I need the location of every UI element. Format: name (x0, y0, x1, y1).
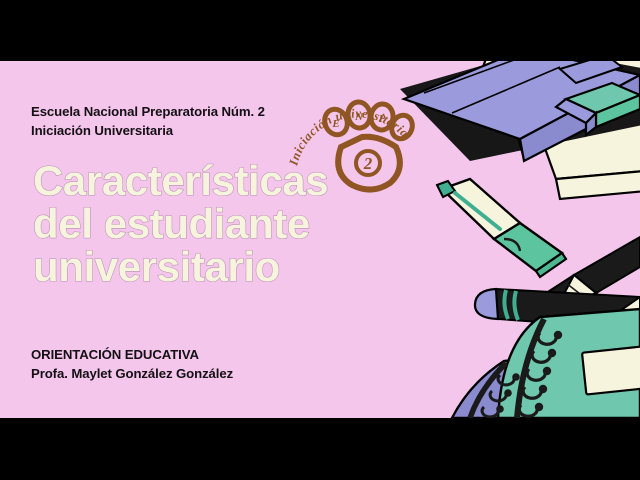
logo-toe-3 (369, 103, 394, 132)
purple-ruler (404, 61, 640, 161)
green-eraser (556, 83, 640, 135)
credits-block: ORIENTACIÓN EDUCATIVA Profa. Maylet Gonz… (31, 345, 351, 383)
green-pen (437, 179, 566, 277)
logo-toe-4 (388, 112, 416, 142)
cream-paper-stack (470, 61, 640, 199)
logo-toe-2 (346, 101, 371, 130)
presenter-name: Profa. Maylet González González (31, 364, 351, 383)
notebook-label (582, 345, 640, 394)
letterbox-bar-top (0, 0, 640, 61)
page-title-line3: universitario (33, 245, 413, 288)
logo-letter-p: P (379, 113, 386, 125)
purple-notebook-spiral (470, 363, 514, 418)
page-title-line2: del estudiante (33, 202, 413, 245)
black-binder (400, 61, 640, 161)
school-name-line1: Escuela Nacional Preparatoria Núm. 2 (31, 102, 331, 121)
presentation-slide: Iniciación universitaria E N P 2 Escuela… (0, 61, 640, 418)
logo-letter-e: E (331, 118, 339, 130)
purple-eraser (560, 61, 622, 83)
purple-spiral-notebook (452, 345, 640, 418)
green-notebook-spiral (517, 319, 556, 418)
page-title: Características del estudiante universit… (33, 159, 413, 288)
letterbox-bar-bottom (0, 418, 640, 480)
school-name-block: Escuela Nacional Preparatoria Núm. 2 Ini… (31, 102, 331, 140)
logo-letter-n: N (354, 111, 364, 123)
green-spiral-notebook (498, 309, 640, 418)
black-pencil-eraser (475, 289, 640, 329)
page-title-line1: Características (33, 159, 413, 202)
school-name-line2: Iniciación Universitaria (31, 121, 331, 140)
department-label: ORIENTACIÓN EDUCATIVA (31, 345, 351, 364)
slide-canvas: Iniciación universitaria E N P 2 Escuela… (0, 0, 640, 480)
black-pencil (540, 237, 640, 311)
